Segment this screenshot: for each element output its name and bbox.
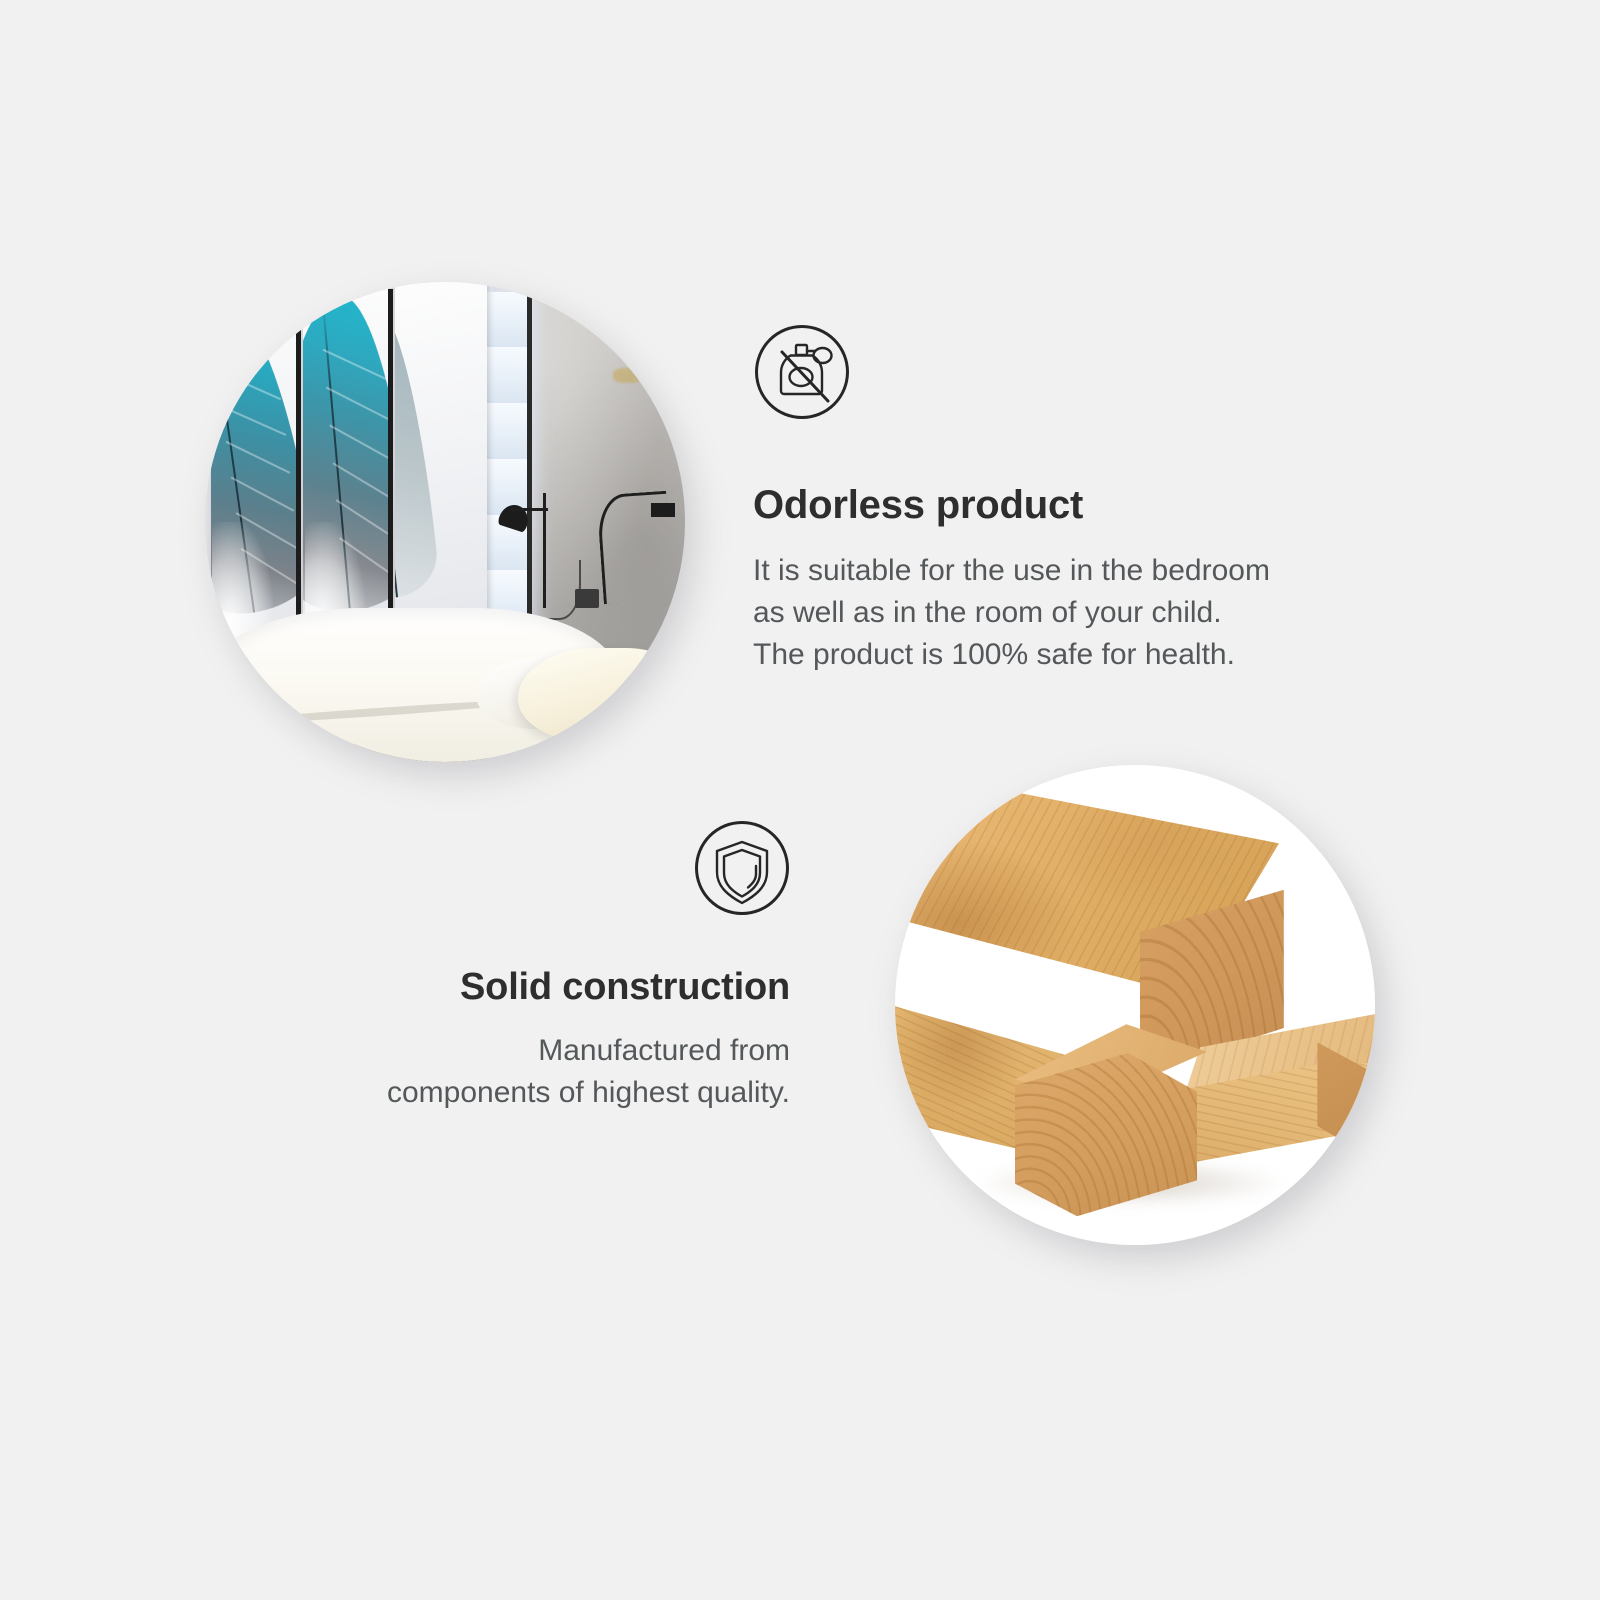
- triptych-panel-1: [211, 282, 297, 656]
- bedroom-feather-triptych-photo: [205, 282, 685, 762]
- feature-body-solid: Manufactured from components of highest …: [190, 1030, 790, 1114]
- pillow-front: [518, 648, 685, 743]
- triptych-panel-2: [303, 282, 389, 656]
- wall-socket: [575, 589, 599, 608]
- feature-heading-odorless: Odorless product: [753, 483, 1083, 528]
- triptych-panel-3: [395, 282, 487, 656]
- wooden-beams-photo: [895, 765, 1375, 1245]
- feature-heading-solid: Solid construction: [190, 966, 790, 1009]
- no-fragrance-icon: [754, 324, 850, 420]
- window-frame-right: [527, 287, 533, 633]
- infographic-canvas: Odorless product It is suitable for the …: [0, 0, 1600, 1600]
- wall-lamp-head: [651, 503, 675, 517]
- wall-stain: [613, 368, 642, 382]
- room-scene: [205, 282, 685, 762]
- bed: [205, 608, 685, 762]
- wood-scene: [895, 765, 1375, 1245]
- feather-triptych-artwork: [205, 282, 493, 656]
- feature-body-odorless: It is suitable for the use in the bedroo…: [753, 550, 1423, 676]
- shield-icon: [694, 820, 790, 916]
